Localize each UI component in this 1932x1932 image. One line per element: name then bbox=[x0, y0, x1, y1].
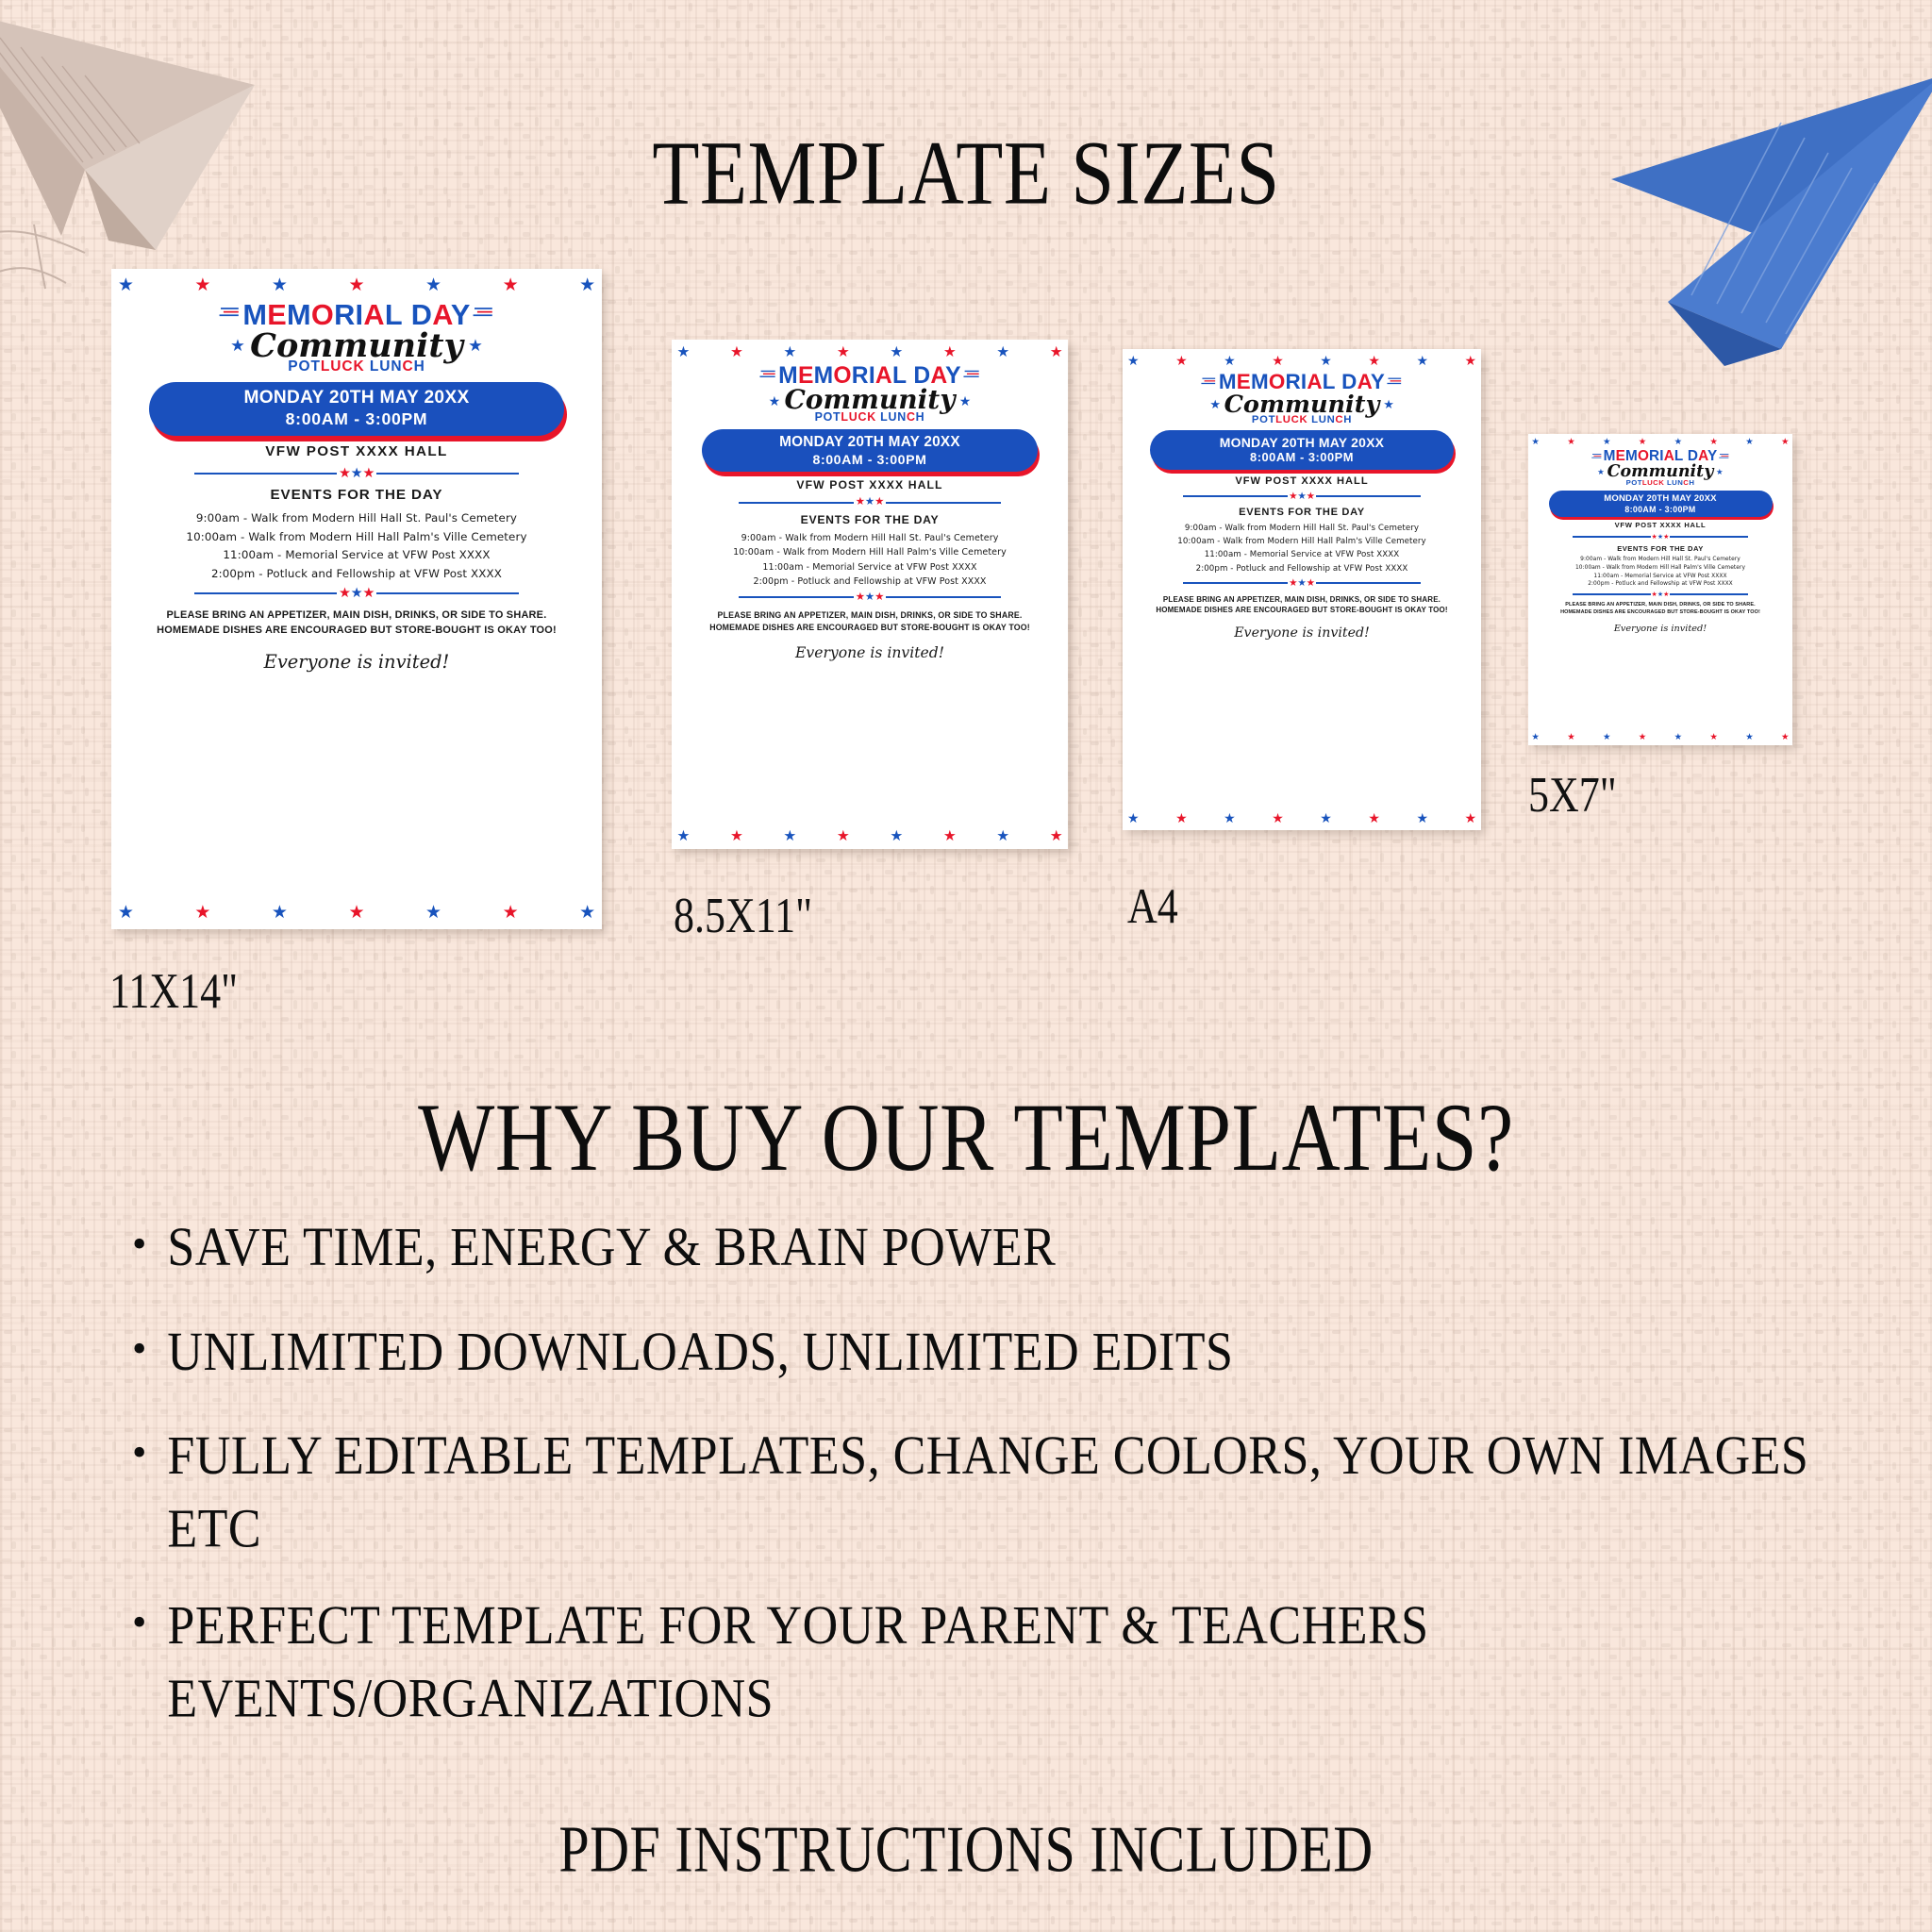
star-icon: ★ bbox=[1209, 399, 1220, 411]
star-icon: ★ bbox=[1745, 733, 1754, 742]
star-icon: ★ bbox=[1465, 355, 1476, 368]
star-icon: ★ bbox=[1674, 733, 1683, 742]
flyer-body: MEMORIAL DAY★Community★POTLUCK LUNCHMOND… bbox=[1123, 370, 1481, 640]
star-icon: ★ bbox=[1674, 438, 1683, 447]
flyer-date-pill: MONDAY 20TH MAY 20XX8:00AM - 3:00PM bbox=[1150, 430, 1454, 470]
star-icon: ★ bbox=[1383, 399, 1393, 411]
flyer-events-list: 9:00am - Walk from Modern Hill Hall St. … bbox=[1137, 524, 1467, 573]
star-divider: ★★★ bbox=[739, 496, 1001, 508]
pdf-instructions-note: PDF INSTRUCTIONS INCLUDED bbox=[0, 1811, 1932, 1887]
star-icon: ★ bbox=[874, 592, 884, 604]
flyer-date-pill: MONDAY 20TH MAY 20XX8:00AM - 3:00PM bbox=[149, 382, 564, 437]
divider-bar-right bbox=[886, 596, 1001, 598]
star-icon: ★ bbox=[1663, 591, 1669, 597]
flyer-note: PLEASE BRING AN APPETIZER, MAIN DISH, DR… bbox=[131, 608, 582, 639]
star-divider: ★★★ bbox=[1573, 590, 1747, 598]
benefits-list: •SAVE TIME, ENERGY & BRAIN POWER•UNLIMIT… bbox=[132, 1212, 1821, 1759]
title-dashes-right-icon bbox=[1387, 376, 1403, 390]
star-icon: ★ bbox=[503, 276, 519, 294]
divider-stars: ★★★ bbox=[1651, 590, 1671, 598]
star-icon: ★ bbox=[730, 829, 743, 843]
bullet-icon: • bbox=[132, 1602, 146, 1643]
flyer-date-pill: MONDAY 20TH MAY 20XX8:00AM - 3:00PM bbox=[702, 429, 1037, 473]
star-icon: ★ bbox=[1297, 578, 1306, 589]
star-icon: ★ bbox=[783, 829, 796, 843]
star-icon: ★ bbox=[890, 345, 903, 359]
flyer-event-item: 11:00am - Memorial Service at VFW Post X… bbox=[688, 562, 1052, 573]
flyer-date-pill-wrap: MONDAY 20TH MAY 20XX8:00AM - 3:00PM bbox=[1150, 430, 1454, 470]
star-icon: ★ bbox=[1709, 733, 1718, 742]
divider-bar-left bbox=[1573, 536, 1650, 538]
star-icon: ★ bbox=[1416, 812, 1427, 825]
star-divider: ★★★ bbox=[739, 591, 1001, 604]
size-label-5x7: 5X7" bbox=[1528, 766, 1617, 824]
star-icon: ★ bbox=[1320, 355, 1331, 368]
star-icon: ★ bbox=[362, 587, 375, 600]
flyer-note-line-2: HOMEMADE DISHES ARE ENCOURAGED BUT STORE… bbox=[1539, 609, 1782, 617]
divider-bar-left bbox=[1183, 495, 1288, 497]
divider-stars: ★★★ bbox=[337, 466, 375, 481]
flyer-body: MEMORIAL DAY★Community★POTLUCK LUNCHMOND… bbox=[672, 363, 1068, 661]
star-icon: ★ bbox=[1567, 733, 1575, 742]
flyer-events-list: 9:00am - Walk from Modern Hill Hall St. … bbox=[1539, 557, 1782, 588]
star-icon: ★ bbox=[230, 338, 245, 354]
star-icon: ★ bbox=[272, 904, 288, 922]
benefit-item: •FULLY EDITABLE TEMPLATES, CHANGE COLORS… bbox=[132, 1421, 1821, 1550]
bullet-icon: • bbox=[132, 1224, 146, 1265]
benefit-text: SAVE TIME, ENERGY & BRAIN POWER bbox=[167, 1212, 1056, 1285]
decorative-star-row: ★★★★★★★★ bbox=[1123, 812, 1481, 825]
flyer-date-line: MONDAY 20TH MAY 20XX bbox=[705, 434, 1036, 451]
flyer-subtitle: POTLUCK LUNCH bbox=[131, 358, 582, 375]
decorative-star-row: ★★★★★★★★ bbox=[1123, 355, 1481, 368]
star-icon: ★ bbox=[996, 829, 1009, 843]
star-icon: ★ bbox=[1745, 438, 1754, 447]
flyer-event-item: 11:00am - Memorial Service at VFW Post X… bbox=[1137, 550, 1467, 559]
star-icon: ★ bbox=[194, 276, 210, 294]
star-icon: ★ bbox=[1368, 355, 1379, 368]
benefit-item: •UNLIMITED DOWNLOADS, UNLIMITED EDITS bbox=[132, 1317, 1821, 1382]
star-icon: ★ bbox=[1709, 438, 1718, 447]
divider-stars: ★★★ bbox=[1651, 532, 1671, 541]
star-icon: ★ bbox=[1127, 812, 1139, 825]
star-icon: ★ bbox=[890, 829, 903, 843]
flyer-date-line: MONDAY 20TH MAY 20XX bbox=[1152, 435, 1451, 450]
star-icon: ★ bbox=[1603, 733, 1611, 742]
size-label-8-5x11: 8.5X11" bbox=[674, 887, 812, 944]
flyer-subtitle: POTLUCK LUNCH bbox=[1539, 478, 1782, 487]
benefit-item: •SAVE TIME, ENERGY & BRAIN POWER bbox=[132, 1212, 1821, 1277]
flyer-event-item: 9:00am - Walk from Modern Hill Hall St. … bbox=[688, 533, 1052, 543]
benefit-text: PERFECT TEMPLATE FOR YOUR PARENT & TEACH… bbox=[167, 1591, 1821, 1736]
star-icon: ★ bbox=[1567, 438, 1575, 447]
divider-bar-right bbox=[1316, 582, 1421, 584]
star-icon: ★ bbox=[1050, 829, 1063, 843]
flyer-script-word: Community bbox=[784, 388, 955, 413]
star-icon: ★ bbox=[468, 338, 483, 354]
flyer-note-line-2: HOMEMADE DISHES ARE ENCOURAGED BUT STORE… bbox=[1137, 605, 1467, 616]
star-icon: ★ bbox=[194, 904, 210, 922]
star-icon: ★ bbox=[1289, 491, 1297, 502]
star-icon: ★ bbox=[1416, 355, 1427, 368]
flyer-invited-line: Everyone is invited! bbox=[1137, 625, 1467, 641]
flyer-events-heading: EVENTS FOR THE DAY bbox=[1539, 544, 1782, 553]
star-icon: ★ bbox=[837, 829, 850, 843]
star-icon: ★ bbox=[1663, 533, 1669, 540]
flyer-event-item: 2:00pm - Potluck and Fellowship at VFW P… bbox=[688, 576, 1052, 587]
flyer-date-pill: MONDAY 20TH MAY 20XX8:00AM - 3:00PM bbox=[1549, 491, 1773, 517]
divider-stars: ★★★ bbox=[337, 586, 375, 601]
star-divider: ★★★ bbox=[1183, 491, 1421, 502]
star-icon: ★ bbox=[676, 345, 690, 359]
star-icon: ★ bbox=[348, 904, 364, 922]
star-icon: ★ bbox=[730, 345, 743, 359]
star-icon: ★ bbox=[769, 394, 781, 408]
title-dashes-left-icon bbox=[219, 306, 241, 323]
divider-stars: ★★★ bbox=[1288, 491, 1316, 502]
star-icon: ★ bbox=[1272, 812, 1283, 825]
flyer-note-line-1: PLEASE BRING AN APPETIZER, MAIN DISH, DR… bbox=[1137, 594, 1467, 606]
divider-bar-right bbox=[1316, 495, 1421, 497]
flyer-body: MEMORIAL DAY★Community★POTLUCK LUNCHMOND… bbox=[1528, 448, 1792, 634]
title-dashes-left-icon bbox=[1591, 453, 1602, 461]
star-icon: ★ bbox=[1465, 812, 1476, 825]
benefit-text: FULLY EDITABLE TEMPLATES, CHANGE COLORS,… bbox=[167, 1421, 1821, 1566]
flyer-date-line: MONDAY 20TH MAY 20XX bbox=[152, 388, 561, 408]
title-dashes-right-icon bbox=[473, 306, 494, 323]
flyer-note-line-1: PLEASE BRING AN APPETIZER, MAIN DISH, DR… bbox=[131, 608, 582, 624]
star-icon: ★ bbox=[1781, 438, 1790, 447]
decorative-star-row: ★★★★★★★ bbox=[111, 904, 602, 922]
star-icon: ★ bbox=[1639, 438, 1647, 447]
flyer-events-list: 9:00am - Walk from Modern Hill Hall St. … bbox=[688, 533, 1052, 588]
star-icon: ★ bbox=[783, 345, 796, 359]
title-dashes-left-icon bbox=[1201, 376, 1217, 390]
flyer-event-item: 10:00am - Walk from Modern Hill Hall Pal… bbox=[131, 530, 582, 543]
flyer-event-item: 9:00am - Walk from Modern Hill Hall St. … bbox=[1539, 557, 1782, 562]
star-icon: ★ bbox=[1297, 491, 1306, 502]
flyer-time-line: 8:00AM - 3:00PM bbox=[152, 409, 561, 429]
star-icon: ★ bbox=[676, 829, 690, 843]
flyer-events-heading: EVENTS FOR THE DAY bbox=[1137, 507, 1467, 518]
star-icon: ★ bbox=[1716, 468, 1724, 476]
flyer-event-item: 11:00am - Memorial Service at VFW Post X… bbox=[1539, 574, 1782, 579]
star-icon: ★ bbox=[865, 497, 874, 508]
divider-bar-right bbox=[886, 502, 1001, 504]
star-icon: ★ bbox=[874, 497, 884, 508]
divider-bar-left bbox=[194, 592, 338, 594]
title-dashes-right-icon bbox=[1719, 453, 1729, 461]
flyer-invited-line: Everyone is invited! bbox=[688, 644, 1052, 661]
star-icon: ★ bbox=[1368, 812, 1379, 825]
star-icon: ★ bbox=[1603, 438, 1611, 447]
flyer-venue: VFW POST XXXX HALL bbox=[1137, 475, 1467, 487]
star-icon: ★ bbox=[1597, 468, 1605, 476]
star-icon: ★ bbox=[856, 592, 865, 604]
star-icon: ★ bbox=[579, 276, 595, 294]
divider-bar-left bbox=[739, 596, 854, 598]
flyer-body: MEMORIAL DAY★Community★POTLUCK LUNCHMOND… bbox=[111, 298, 602, 674]
star-icon: ★ bbox=[943, 829, 957, 843]
star-icon: ★ bbox=[1320, 812, 1331, 825]
page-title-template-sizes: TEMPLATE SIZES bbox=[0, 121, 1932, 225]
star-icon: ★ bbox=[1531, 733, 1540, 742]
benefit-item: •PERFECT TEMPLATE FOR YOUR PARENT & TEAC… bbox=[132, 1591, 1821, 1720]
star-icon: ★ bbox=[579, 904, 595, 922]
flyer-preview-5x7[interactable]: ★★★★★★★★MEMORIAL DAY★Community★POTLUCK L… bbox=[1528, 434, 1792, 745]
divider-bar-left bbox=[739, 502, 854, 504]
flyer-event-item: 10:00am - Walk from Modern Hill Hall Pal… bbox=[1539, 565, 1782, 571]
star-icon: ★ bbox=[1307, 578, 1315, 589]
star-icon: ★ bbox=[865, 592, 874, 604]
decorative-star-row: ★★★★★★★ bbox=[111, 276, 602, 294]
star-icon: ★ bbox=[425, 276, 441, 294]
star-divider: ★★★ bbox=[194, 586, 519, 601]
decorative-star-row: ★★★★★★★★ bbox=[672, 829, 1068, 843]
star-icon: ★ bbox=[959, 394, 972, 408]
benefit-text: UNLIMITED DOWNLOADS, UNLIMITED EDITS bbox=[167, 1317, 1233, 1390]
flyer-date-pill-wrap: MONDAY 20TH MAY 20XX8:00AM - 3:00PM bbox=[1549, 491, 1773, 517]
flyer-date-pill-wrap: MONDAY 20TH MAY 20XX8:00AM - 3:00PM bbox=[149, 382, 564, 437]
flyer-subtitle: POTLUCK LUNCH bbox=[688, 410, 1052, 424]
flyer-note: PLEASE BRING AN APPETIZER, MAIN DISH, DR… bbox=[1539, 602, 1782, 617]
flyer-event-item: 9:00am - Walk from Modern Hill Hall St. … bbox=[1137, 524, 1467, 533]
flyer-invited-line: Everyone is invited! bbox=[131, 651, 582, 673]
star-icon: ★ bbox=[503, 904, 519, 922]
flyer-script-row: ★Community★ bbox=[688, 388, 1052, 413]
star-icon: ★ bbox=[351, 467, 363, 480]
flyer-venue: VFW POST XXXX HALL bbox=[1539, 521, 1782, 529]
star-icon: ★ bbox=[1175, 812, 1187, 825]
flyer-script-row: ★Community★ bbox=[1137, 393, 1467, 416]
star-divider: ★★★ bbox=[194, 466, 519, 481]
size-label-a4: A4 bbox=[1127, 877, 1178, 935]
flyer-note: PLEASE BRING AN APPETIZER, MAIN DISH, DR… bbox=[688, 609, 1052, 633]
star-icon: ★ bbox=[1781, 733, 1790, 742]
flyer-events-list: 9:00am - Walk from Modern Hill Hall St. … bbox=[131, 511, 582, 580]
section-title-why-buy: WHY BUY OUR TEMPLATES? bbox=[0, 1080, 1932, 1193]
divider-stars: ★★★ bbox=[854, 591, 885, 604]
flyer-events-heading: EVENTS FOR THE DAY bbox=[688, 513, 1052, 526]
star-icon: ★ bbox=[1307, 491, 1315, 502]
star-icon: ★ bbox=[362, 467, 375, 480]
flyer-time-line: 8:00AM - 3:00PM bbox=[705, 452, 1036, 467]
flyer-venue: VFW POST XXXX HALL bbox=[688, 478, 1052, 491]
flyer-script-word: Community bbox=[250, 330, 463, 361]
flyer-subtitle: POTLUCK LUNCH bbox=[1137, 414, 1467, 425]
decorative-star-row: ★★★★★★★★ bbox=[672, 345, 1068, 359]
flyer-preview-a4[interactable]: ★★★★★★★★MEMORIAL DAY★Community★POTLUCK L… bbox=[1123, 349, 1481, 830]
divider-bar-right bbox=[376, 473, 520, 475]
decorative-star-row: ★★★★★★★★ bbox=[1528, 438, 1792, 447]
star-divider: ★★★ bbox=[1183, 577, 1421, 589]
flyer-event-item: 2:00pm - Potluck and Fellowship at VFW P… bbox=[131, 567, 582, 580]
flyer-venue: VFW POST XXXX HALL bbox=[131, 443, 582, 459]
star-icon: ★ bbox=[1531, 438, 1540, 447]
title-dashes-left-icon bbox=[759, 369, 776, 383]
flyer-event-item: 2:00pm - Potluck and Fellowship at VFW P… bbox=[1539, 581, 1782, 587]
flyer-preview-8-5x11[interactable]: ★★★★★★★★MEMORIAL DAY★Community★POTLUCK L… bbox=[672, 340, 1068, 849]
star-icon: ★ bbox=[118, 904, 134, 922]
star-icon: ★ bbox=[943, 345, 957, 359]
star-icon: ★ bbox=[339, 467, 351, 480]
star-icon: ★ bbox=[425, 904, 441, 922]
divider-stars: ★★★ bbox=[1288, 577, 1316, 589]
star-divider: ★★★ bbox=[1573, 532, 1747, 541]
flyer-time-line: 8:00AM - 3:00PM bbox=[1550, 505, 1771, 514]
flyer-preview-11x14[interactable]: ★★★★★★★MEMORIAL DAY★Community★POTLUCK LU… bbox=[111, 269, 602, 929]
flyer-note: PLEASE BRING AN APPETIZER, MAIN DISH, DR… bbox=[1137, 594, 1467, 616]
star-icon: ★ bbox=[1289, 578, 1297, 589]
flyer-note-line-2: HOMEMADE DISHES ARE ENCOURAGED BUT STORE… bbox=[688, 622, 1052, 634]
divider-bar-right bbox=[1670, 593, 1747, 595]
flyer-time-line: 8:00AM - 3:00PM bbox=[1152, 450, 1451, 464]
flyer-note-line-1: PLEASE BRING AN APPETIZER, MAIN DISH, DR… bbox=[1539, 602, 1782, 609]
divider-bar-left bbox=[1573, 593, 1650, 595]
star-icon: ★ bbox=[1175, 355, 1187, 368]
star-icon: ★ bbox=[1050, 345, 1063, 359]
flyer-event-item: 9:00am - Walk from Modern Hill Hall St. … bbox=[131, 511, 582, 525]
star-icon: ★ bbox=[1224, 355, 1235, 368]
flyer-invited-line: Everyone is invited! bbox=[1539, 624, 1782, 634]
star-icon: ★ bbox=[1224, 812, 1235, 825]
star-icon: ★ bbox=[996, 345, 1009, 359]
flyer-note-line-1: PLEASE BRING AN APPETIZER, MAIN DISH, DR… bbox=[688, 609, 1052, 622]
size-label-11x14: 11X14" bbox=[109, 962, 238, 1020]
divider-bar-right bbox=[1670, 536, 1747, 538]
divider-bar-left bbox=[194, 473, 338, 475]
decorative-star-row: ★★★★★★★★ bbox=[1528, 733, 1792, 742]
divider-bar-left bbox=[1183, 582, 1288, 584]
flyer-event-item: 2:00pm - Potluck and Fellowship at VFW P… bbox=[1137, 564, 1467, 574]
flyer-event-item: 11:00am - Memorial Service at VFW Post X… bbox=[131, 548, 582, 561]
star-icon: ★ bbox=[272, 276, 288, 294]
flyer-script-word: Community bbox=[1224, 393, 1380, 416]
star-icon: ★ bbox=[1639, 733, 1647, 742]
star-icon: ★ bbox=[1127, 355, 1139, 368]
flyer-date-line: MONDAY 20TH MAY 20XX bbox=[1550, 493, 1771, 504]
divider-bar-right bbox=[376, 592, 520, 594]
title-dashes-right-icon bbox=[963, 369, 980, 383]
divider-stars: ★★★ bbox=[854, 496, 885, 508]
flyer-events-heading: EVENTS FOR THE DAY bbox=[131, 487, 582, 503]
star-icon: ★ bbox=[118, 276, 134, 294]
flyer-event-item: 10:00am - Walk from Modern Hill Hall Pal… bbox=[688, 547, 1052, 558]
flyer-event-item: 10:00am - Walk from Modern Hill Hall Pal… bbox=[1137, 537, 1467, 546]
flyer-note-line-2: HOMEMADE DISHES ARE ENCOURAGED BUT STORE… bbox=[131, 624, 582, 639]
bullet-icon: • bbox=[132, 1432, 146, 1474]
star-icon: ★ bbox=[856, 497, 865, 508]
flyer-script-row: ★Community★ bbox=[131, 330, 582, 361]
star-icon: ★ bbox=[339, 587, 351, 600]
star-icon: ★ bbox=[348, 276, 364, 294]
flyer-date-pill-wrap: MONDAY 20TH MAY 20XX8:00AM - 3:00PM bbox=[702, 429, 1037, 473]
star-icon: ★ bbox=[351, 587, 363, 600]
star-icon: ★ bbox=[1272, 355, 1283, 368]
star-icon: ★ bbox=[837, 345, 850, 359]
bullet-icon: • bbox=[132, 1328, 146, 1370]
